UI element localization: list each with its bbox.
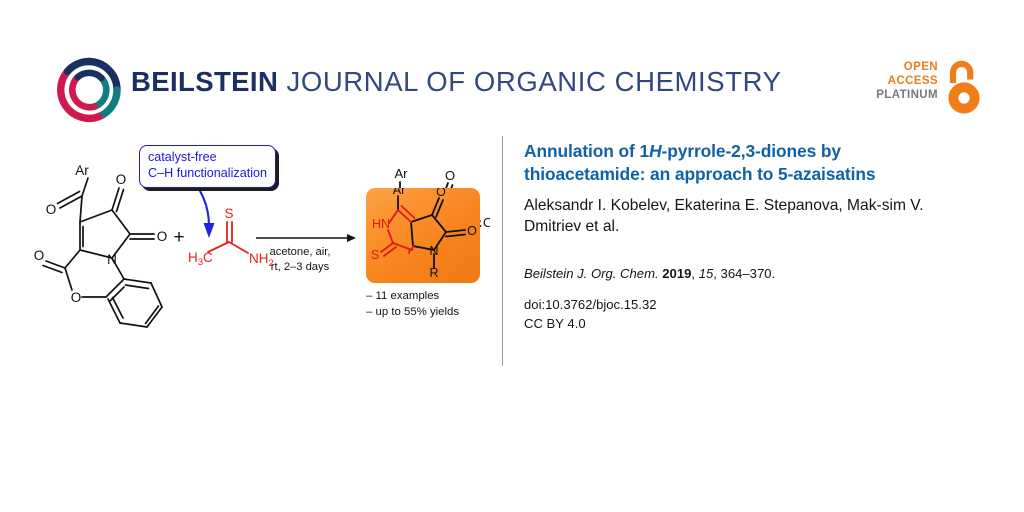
product-r-label: R xyxy=(429,266,438,280)
product-hn-label: HN xyxy=(372,217,390,231)
bullet-examples: – 11 examples xyxy=(366,288,459,304)
sm-label-o-c3: O xyxy=(116,172,127,187)
article-title-part1: Annulation of 1 xyxy=(524,141,649,161)
product-structure: Ar O O HN S N R xyxy=(366,188,480,283)
conditions-line-2: rt, 2–3 days xyxy=(248,260,352,275)
sm-label-o-ring: O xyxy=(71,290,82,305)
callout-line-1: catalyst-free xyxy=(148,150,267,166)
reagent-label-s: S xyxy=(224,206,233,221)
product-ar-label: Ar xyxy=(393,188,406,197)
page-root: BEILSTEIN JOURNAL OF ORGANIC CHEMISTRY O… xyxy=(0,0,1024,512)
product-n-label: N xyxy=(429,244,438,258)
plus-sign: + xyxy=(173,227,184,248)
open-access-badge: OPEN ACCESS PLATINUM xyxy=(862,58,982,120)
journal-title-light: JOURNAL OF ORGANIC CHEMISTRY xyxy=(278,66,781,97)
open-access-line-open: OPEN xyxy=(858,60,938,74)
open-lock-icon xyxy=(942,58,982,116)
sm-label-ar: Ar xyxy=(75,163,89,178)
blue-arrowhead xyxy=(204,223,215,238)
product-o2-label: O xyxy=(467,224,477,238)
citation-comma-1: , xyxy=(691,266,698,281)
reaction-conditions: acetone, air, rt, 2–3 days xyxy=(248,245,352,275)
article-license[interactable]: CC BY 4.0 xyxy=(524,315,964,334)
sm-label-n: N xyxy=(107,252,117,267)
article-citation: Beilstein J. Org. Chem. 2019, 15, 364–37… xyxy=(524,265,964,283)
open-access-label: OPEN ACCESS PLATINUM xyxy=(858,60,938,102)
article-title[interactable]: Annulation of 1H-pyrrole-2,3-diones by t… xyxy=(524,140,964,185)
callout-line-2: C–H functionalization xyxy=(148,166,267,182)
open-access-line-access: ACCESS xyxy=(858,74,938,88)
article-doi[interactable]: doi:10.3762/bjoc.15.32 xyxy=(524,296,964,315)
bullet-yields: – up to 55% yields xyxy=(366,304,459,320)
masthead: BEILSTEIN JOURNAL OF ORGANIC CHEMISTRY O… xyxy=(0,0,1024,135)
open-access-line-platinum: PLATINUM xyxy=(858,88,938,102)
product-s-label: S xyxy=(371,248,379,262)
citation-volume: 15 xyxy=(699,266,714,281)
product-label-o-c2: O xyxy=(483,215,490,230)
sm-label-o-c2: O xyxy=(157,229,168,244)
citation-journal: Beilstein J. Org. Chem. xyxy=(524,266,659,281)
vertical-divider xyxy=(502,136,503,366)
article-title-italic-h: H xyxy=(649,141,661,161)
sm-label-o-aroyl: O xyxy=(46,202,57,217)
citation-pages: 364–370. xyxy=(721,266,776,281)
conditions-line-1: acetone, air, xyxy=(248,245,352,260)
product-label-ar: Ar xyxy=(395,166,409,181)
reagent-label-methyl: H3C xyxy=(188,250,213,268)
citation-year: 2019 xyxy=(662,266,691,281)
product-label-o-c3: O xyxy=(445,168,455,183)
journal-title-bold: BEILSTEIN xyxy=(131,66,278,97)
callout-catalyst-free: catalyst-free C–H functionalization xyxy=(139,145,276,188)
reaction-arrowhead xyxy=(347,234,356,242)
citation-comma-2: , xyxy=(713,266,720,281)
beilstein-spiral-logo-icon xyxy=(55,56,123,124)
product-o1-label: O xyxy=(436,188,446,199)
article-authors: Aleksandr I. Kobelev, Ekaterina E. Stepa… xyxy=(524,196,964,237)
journal-title: BEILSTEIN JOURNAL OF ORGANIC CHEMISTRY xyxy=(131,68,782,96)
result-bullets: – 11 examples – up to 55% yields xyxy=(366,288,459,320)
article-metadata: Annulation of 1H-pyrrole-2,3-diones by t… xyxy=(524,140,964,334)
sm-label-o-lactone-dbl: O xyxy=(34,248,45,263)
